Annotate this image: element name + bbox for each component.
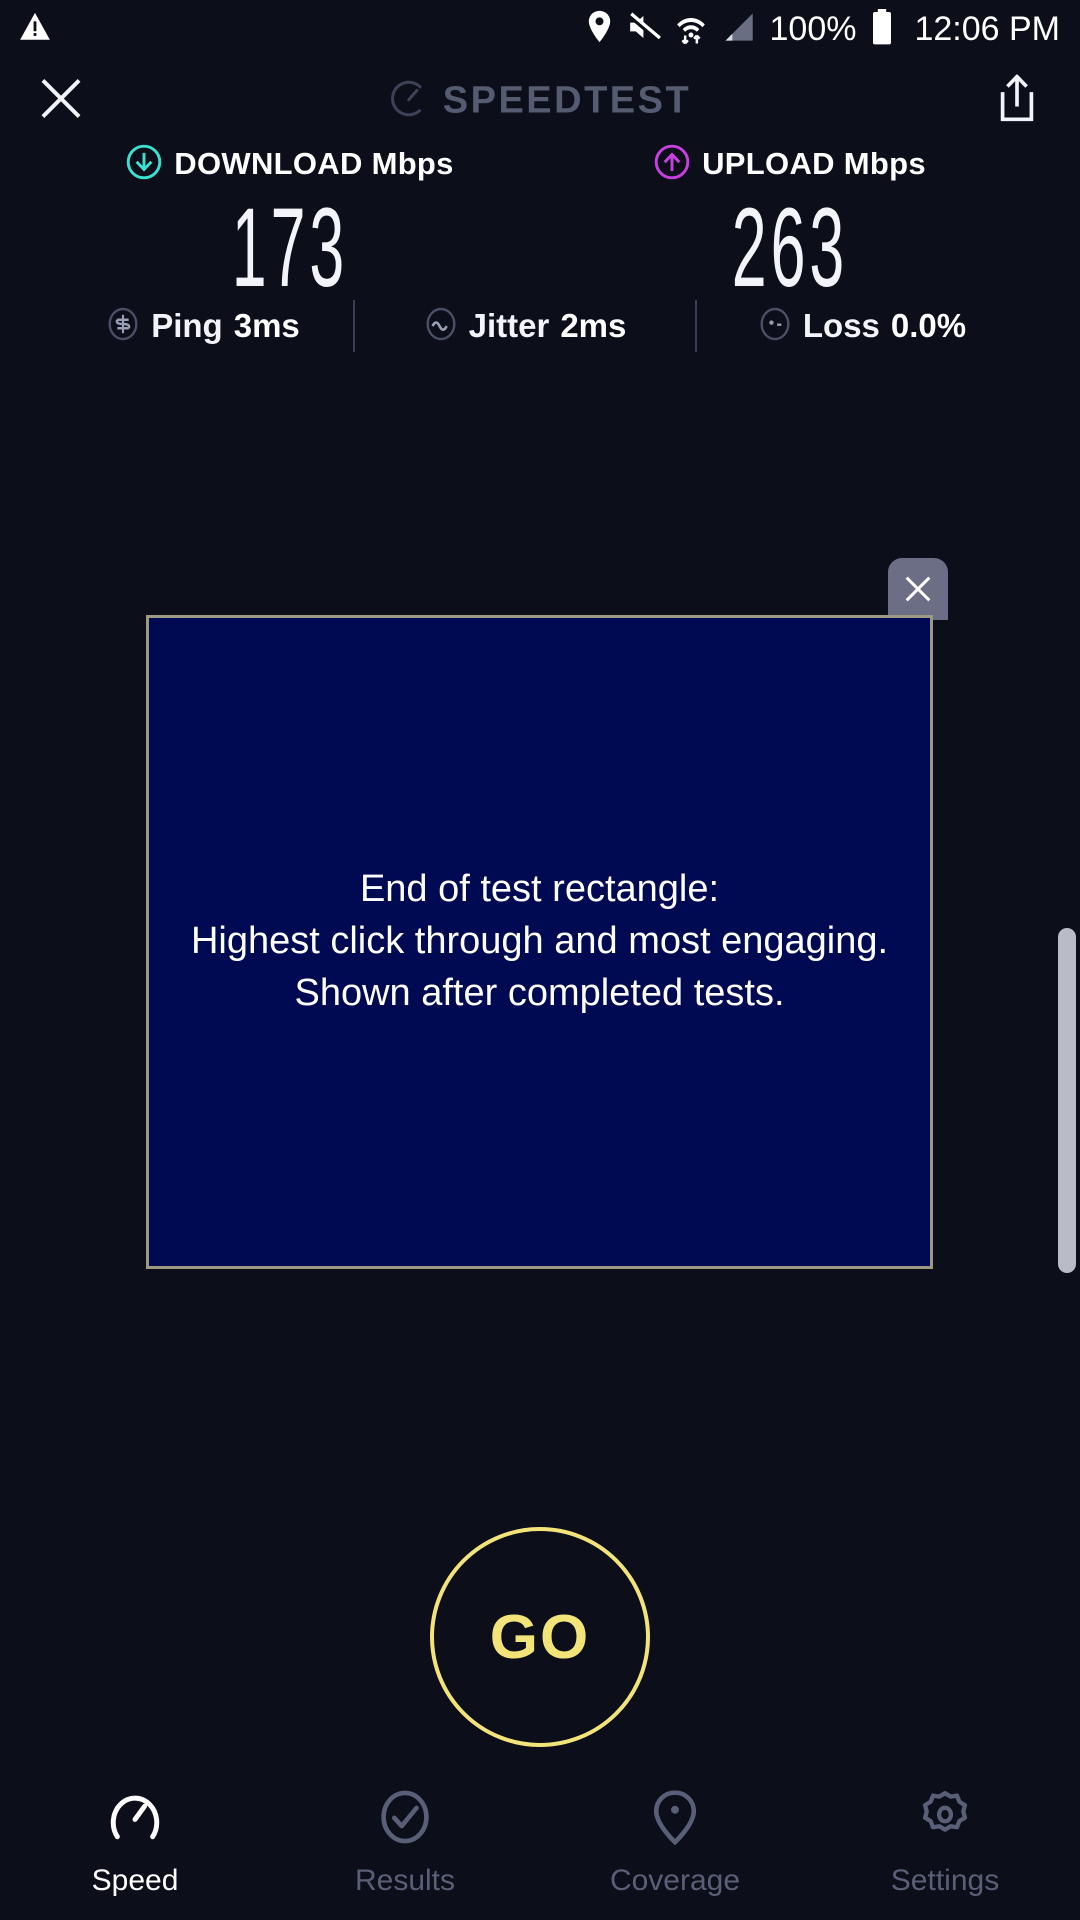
download-header: DOWNLOAD Mbps — [90, 142, 490, 186]
jitter-icon — [424, 307, 458, 346]
check-circle-icon — [377, 1789, 433, 1850]
vertical-scrollbar[interactable] — [1058, 928, 1076, 1273]
ad-close-button[interactable] — [888, 558, 948, 620]
ad-text-line-2: Highest click through and most engaging. — [191, 916, 888, 968]
nav-label-speed: Speed — [92, 1864, 179, 1898]
metric-jitter-slot: Jitter 2ms — [355, 307, 695, 346]
metric-loss-label: Loss — [803, 307, 880, 345]
download-result: DOWNLOAD Mbps 173 — [90, 142, 490, 304]
app-logo: SPEEDTEST — [389, 79, 691, 124]
metric-ping-slot: Ping 3ms — [53, 307, 353, 346]
download-value: 173 — [178, 192, 402, 304]
upload-result: UPLOAD Mbps 263 — [590, 142, 990, 304]
nav-item-results[interactable]: Results — [270, 1789, 540, 1898]
metric-loss: Loss 0.0% — [758, 307, 966, 346]
map-pin-icon — [647, 1789, 703, 1850]
app-header: SPEEDTEST — [0, 58, 1080, 144]
status-bar: 100% 12:06 PM — [0, 0, 1080, 58]
page-title: SPEEDTEST — [443, 80, 691, 123]
metric-jitter-label: Jitter — [469, 307, 550, 345]
ad-banner[interactable]: End of test rectangle: Highest click thr… — [146, 615, 933, 1269]
battery-full-icon — [871, 9, 893, 50]
ping-icon — [106, 307, 140, 346]
circle-arrow-up-icon — [654, 144, 690, 185]
nav-item-settings[interactable]: Settings — [810, 1789, 1080, 1898]
download-label: DOWNLOAD Mbps — [174, 146, 453, 182]
speed-results-row: DOWNLOAD Mbps 173 UPLOAD Mbps — [0, 142, 1080, 304]
location-pin-icon — [586, 10, 613, 48]
speed-results: DOWNLOAD Mbps 173 UPLOAD Mbps — [0, 142, 1080, 304]
metric-ping-value: 3ms — [234, 307, 300, 345]
status-bar-right: 100% 12:06 PM — [586, 9, 1061, 50]
nav-label-settings: Settings — [891, 1864, 999, 1898]
circle-arrow-down-icon — [126, 144, 162, 185]
upload-label: UPLOAD Mbps — [702, 146, 926, 182]
warning-triangle-icon — [18, 10, 52, 49]
go-button[interactable]: GO — [430, 1527, 650, 1747]
wifi-transfer-icon — [676, 10, 706, 49]
metric-ping: Ping 3ms — [106, 307, 300, 346]
speedtest-gauge-icon — [389, 79, 429, 124]
ad-text: End of test rectangle: Highest click thr… — [191, 864, 888, 1019]
speed-gauge-icon — [107, 1789, 163, 1850]
bottom-navigation: Speed Results Coverage — [0, 1785, 1080, 1920]
status-bar-left — [18, 10, 52, 49]
metric-ping-label: Ping — [151, 307, 223, 345]
nav-label-coverage: Coverage — [610, 1864, 740, 1898]
ad-text-line-1: End of test rectangle: — [191, 864, 888, 916]
battery-percent-label: 100% — [770, 10, 857, 49]
metric-loss-slot: Loss 0.0% — [697, 307, 1027, 346]
speedtest-app-screen: 100% 12:06 PM SPEEDTEST — [0, 0, 1080, 1920]
loss-icon — [758, 307, 792, 346]
share-button[interactable] — [996, 75, 1038, 128]
metric-jitter: Jitter 2ms — [424, 307, 627, 346]
metrics-row: Ping 3ms Jitter 2ms — [0, 300, 1080, 352]
cell-signal-icon — [721, 11, 755, 48]
nav-item-speed[interactable]: Speed — [0, 1789, 270, 1898]
metric-loss-value: 0.0% — [891, 307, 966, 345]
go-button-label: GO — [490, 1602, 590, 1673]
upload-value: 263 — [678, 192, 902, 304]
nav-label-results: Results — [355, 1864, 455, 1898]
clock-label: 12:06 PM — [914, 10, 1060, 49]
close-button[interactable] — [38, 76, 84, 127]
metric-jitter-value: 2ms — [560, 307, 626, 345]
ad-text-line-3: Shown after completed tests. — [191, 968, 888, 1020]
gear-icon — [917, 1789, 973, 1850]
nav-item-coverage[interactable]: Coverage — [540, 1789, 810, 1898]
upload-header: UPLOAD Mbps — [590, 142, 990, 186]
mute-icon — [628, 12, 661, 47]
